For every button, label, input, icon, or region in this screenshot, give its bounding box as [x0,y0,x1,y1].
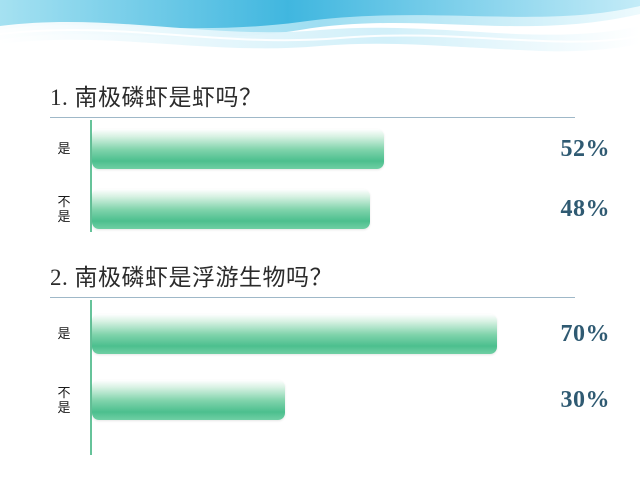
slide-canvas: 1. 南极磷虾是虾吗？ 是 52% 不是 48% 2. 南极磷虾是浮游生物吗？ [0,0,640,480]
bar-2-yes [92,314,497,354]
bar-row-2-yes: 是 70% [0,314,640,360]
bar-value-2-yes: 70% [561,321,611,348]
question-1-title: 1. 南极磷虾是虾吗？ [50,78,575,112]
question-1-underline [50,117,575,118]
bar-row-2-no: 不是 30% [0,380,640,426]
bar-label-2-no: 不是 [44,385,84,415]
bar-value-1-no: 48% [561,196,611,223]
question-2-underline [50,297,575,298]
bar-track-2-yes [92,314,497,354]
bar-row-1-no: 不是 48% [0,189,640,235]
question-block-2: 2. 南极磷虾是浮游生物吗？ [0,258,640,298]
header-decoration [0,0,640,72]
question-2-title: 2. 南极磷虾是浮游生物吗？ [50,258,575,292]
bar-1-yes [92,129,384,169]
bar-value-1-yes: 52% [561,136,611,163]
bar-row-1-yes: 是 52% [0,129,640,175]
bar-label-2-yes: 是 [44,326,84,341]
bar-label-1-no: 不是 [44,194,84,224]
bar-2-no [92,380,285,420]
bar-track-2-no [92,380,285,420]
bar-1-no [92,189,370,229]
bar-track-1-yes [92,129,384,169]
header-swoosh-icon [0,0,640,72]
bar-label-1-yes: 是 [44,141,84,156]
question-block-1: 1. 南极磷虾是虾吗？ [0,78,640,118]
bar-track-1-no [92,189,370,229]
bar-value-2-no: 30% [561,387,611,414]
